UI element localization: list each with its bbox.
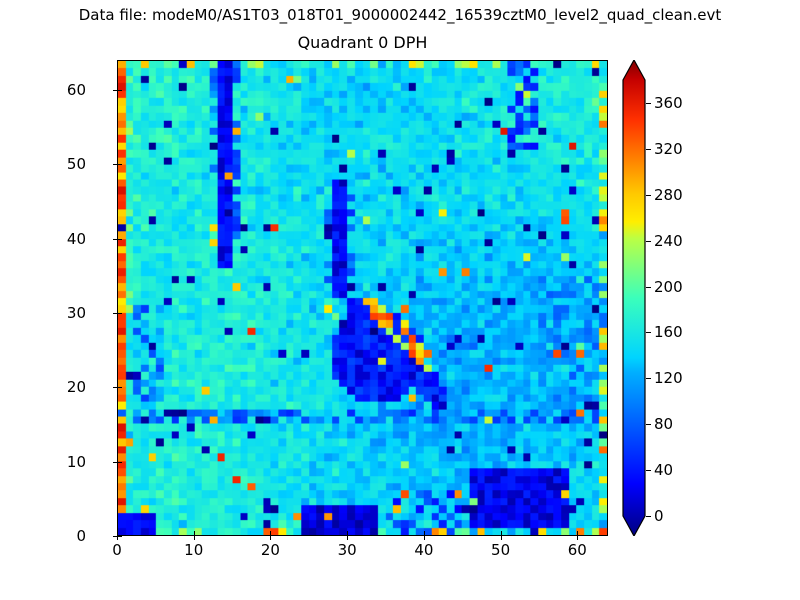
x-tick-label: 50	[491, 541, 510, 559]
colorbar	[622, 60, 646, 536]
colorbar-tick	[646, 241, 651, 242]
colorbar-tick	[646, 424, 651, 425]
colorbar-tick-label: 80	[654, 415, 673, 433]
colorbar-tick	[646, 103, 651, 104]
colorbar-tick	[646, 516, 651, 517]
y-tick-inner	[117, 536, 122, 537]
colorbar-tick-label: 280	[654, 186, 683, 204]
x-tick-inner	[194, 531, 195, 536]
y-tick-label: 0	[76, 527, 86, 545]
x-tick	[577, 536, 578, 540]
colorbar-tick-label: 40	[654, 461, 673, 479]
x-tick-label: 40	[414, 541, 433, 559]
y-tick-inner	[117, 313, 122, 314]
x-tick-inner	[347, 531, 348, 536]
y-tick-label: 60	[67, 81, 86, 99]
x-tick-label: 60	[568, 541, 587, 559]
y-tick-inner	[117, 164, 122, 165]
colorbar-tick-label: 120	[654, 369, 683, 387]
x-tick	[501, 536, 502, 540]
x-tick-inner	[577, 531, 578, 536]
y-tick-inner	[117, 387, 122, 388]
dph-heatmap-image	[118, 61, 607, 535]
y-tick-label: 10	[67, 453, 86, 471]
data-file-title: Data file: modeM0/AS1T03_018T01_90000024…	[0, 6, 800, 24]
colorbar-gradient	[622, 60, 646, 536]
colorbar-tick	[646, 149, 651, 150]
y-tick-label: 40	[67, 230, 86, 248]
colorbar-tick-label: 240	[654, 232, 683, 250]
x-tick-label: 20	[261, 541, 280, 559]
colorbar-tick-label: 200	[654, 278, 683, 296]
y-tick-label: 30	[67, 304, 86, 322]
x-tick-label: 10	[184, 541, 203, 559]
page-title: Quadrant 0 DPH	[117, 33, 608, 52]
colorbar-tick	[646, 332, 651, 333]
x-tick-inner	[424, 531, 425, 536]
y-tick-inner	[117, 90, 122, 91]
colorbar-tick	[646, 287, 651, 288]
x-tick	[424, 536, 425, 540]
heatmap-axes	[117, 60, 608, 536]
x-tick-inner	[270, 531, 271, 536]
colorbar-tick	[646, 470, 651, 471]
colorbar-tick-label: 360	[654, 94, 683, 112]
colorbar-tick	[646, 195, 651, 196]
x-tick-label: 0	[112, 541, 122, 559]
x-tick	[194, 536, 195, 540]
x-tick-inner	[501, 531, 502, 536]
y-tick-inner	[117, 239, 122, 240]
colorbar-tick-label: 320	[654, 140, 683, 158]
x-tick	[270, 536, 271, 540]
y-tick-label: 20	[67, 378, 86, 396]
matplotlib-figure: Data file: modeM0/AS1T03_018T01_90000024…	[0, 0, 800, 600]
colorbar-tick-label: 0	[654, 507, 664, 525]
x-tick	[347, 536, 348, 540]
y-tick-inner	[117, 462, 122, 463]
colorbar-tick-label: 160	[654, 323, 683, 341]
colorbar-tick	[646, 378, 651, 379]
y-tick-label: 50	[67, 155, 86, 173]
x-tick-label: 30	[338, 541, 357, 559]
